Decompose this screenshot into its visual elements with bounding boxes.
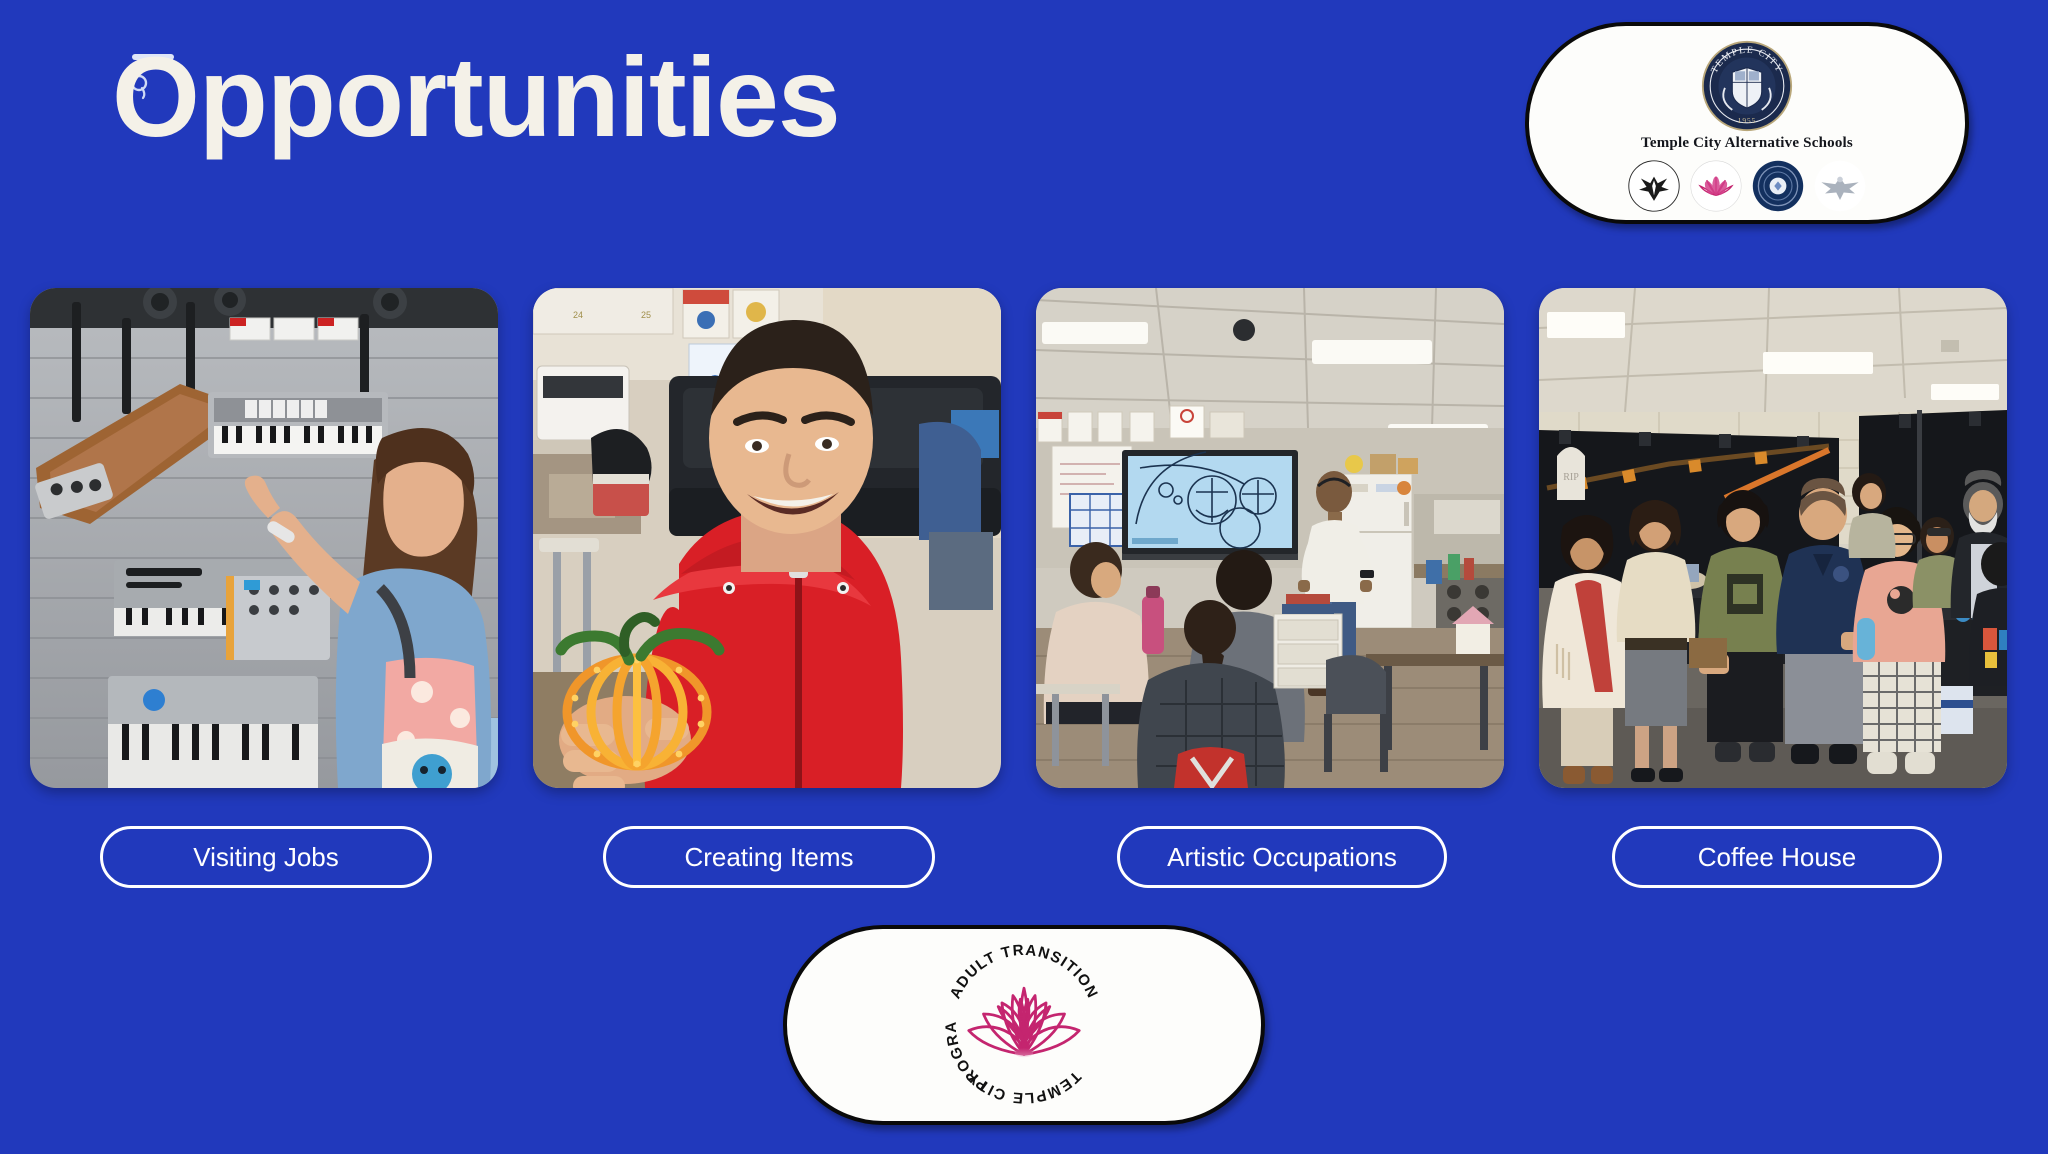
gallery-photo-card[interactable] (30, 288, 498, 788)
grey-eagle-logo-icon (1812, 158, 1868, 214)
adult-transition-lotus-logo-icon (1688, 158, 1744, 214)
page-title: Opportunities (112, 38, 840, 157)
photo-student-beaded-pumpkin: 2425 (533, 288, 1001, 788)
svg-text:1955: 1955 (1738, 116, 1756, 125)
temple-city-adult-transition-program-logo-icon: ADULT TRANSITION TEMPLE CITY PROGRAM (932, 933, 1116, 1117)
district-badge: TEMPLE CITY 1955 Temple City Alternative… (1525, 22, 1969, 224)
svg-text:24: 24 (573, 310, 583, 320)
temple-city-unified-seal-logo-icon (1750, 158, 1806, 214)
gallery-caption-creating-items[interactable]: Creating Items (603, 826, 935, 888)
photo-classroom-drawing-lesson (1036, 288, 1504, 788)
school-logo-row (1626, 158, 1868, 214)
gallery-caption-artistic-occupations[interactable]: Artistic Occupations (1117, 826, 1447, 888)
photo-music-store-keyboards (30, 288, 498, 788)
program-badge: ADULT TRANSITION TEMPLE CITY PROGRAM (783, 925, 1265, 1125)
svg-text:25: 25 (641, 310, 651, 320)
gallery-photo-card[interactable] (1036, 288, 1504, 788)
district-name-label: Temple City Alternative Schools (1641, 135, 1853, 152)
gallery-photo-card[interactable]: RIP (1539, 288, 2007, 788)
photo-coffee-house-group: RIP (1539, 288, 2007, 788)
gallery-caption-coffee-house[interactable]: Coffee House (1612, 826, 1942, 888)
gallery-caption-visiting-jobs[interactable]: Visiting Jobs (100, 826, 432, 888)
temple-city-seal-icon: TEMPLE CITY 1955 (1701, 40, 1793, 132)
gallery-photo-card[interactable]: 2425 (533, 288, 1001, 788)
phoenix-eagle-logo-icon (1626, 158, 1682, 214)
svg-text:RIP: RIP (1563, 472, 1579, 483)
